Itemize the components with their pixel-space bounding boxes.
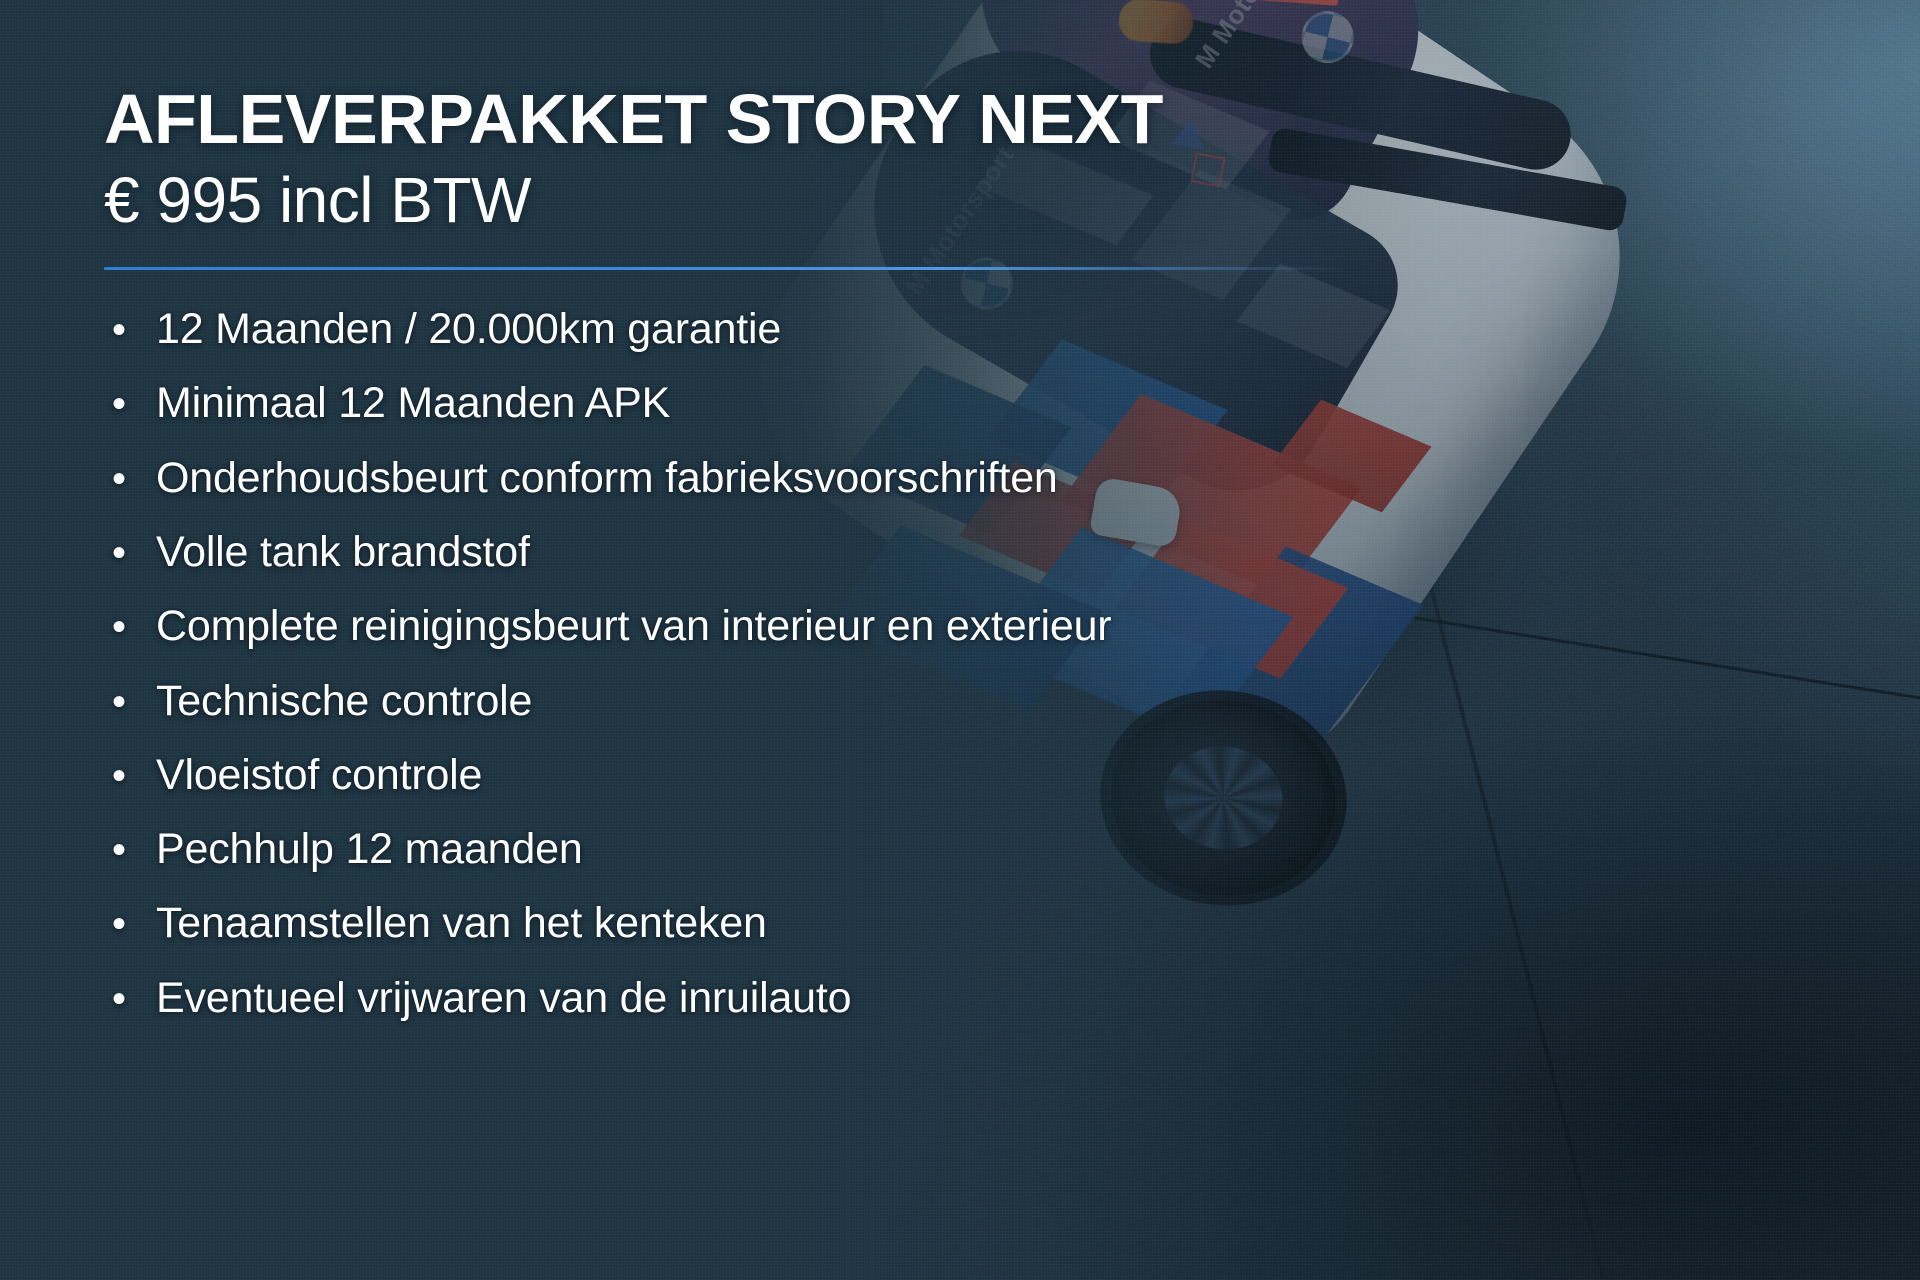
list-item-label: Technische controle [156,678,532,725]
page-title: AFLEVERPAKKET STORY NEXT [104,84,1920,155]
list-item-label: 12 Maanden / 20.000km garantie [156,306,781,353]
list-item-label: Tenaamstellen van het kenteken [156,900,767,947]
bullet-dot-icon: • [104,979,156,1019]
accent-divider [104,267,1344,270]
list-item-0: • 12 Maanden / 20.000km garantie [104,306,1920,353]
list-item-label: Pechhulp 12 maanden [156,826,583,873]
list-item-9: • Eventueel vrijwaren van de inruilauto [104,975,1920,1022]
list-item-label: Onderhoudsbeurt conform fabrieksvoorschr… [156,455,1058,502]
bullet-dot-icon: • [104,533,156,573]
list-item-8: • Tenaamstellen van het kenteken [104,900,1920,947]
promo-slide: M Motorsport M Motorsport M Motorsport A… [0,0,1920,1280]
bullet-dot-icon: • [104,830,156,870]
list-item-4: • Complete reinigingsbeurt van interieur… [104,603,1920,650]
list-item-label: Vloeistof controle [156,752,482,799]
bullet-dot-icon: • [104,459,156,499]
list-item-label: Volle tank brandstof [156,529,530,576]
bullet-dot-icon: • [104,607,156,647]
feature-list: • 12 Maanden / 20.000km garantie • Minim… [104,306,1920,1022]
content-panel: AFLEVERPAKKET STORY NEXT € 995 incl BTW … [0,0,1920,1022]
list-item-3: • Volle tank brandstof [104,529,1920,576]
bullet-dot-icon: • [104,756,156,796]
bullet-dot-icon: • [104,384,156,424]
list-item-7: • Pechhulp 12 maanden [104,826,1920,873]
bullet-dot-icon: • [104,310,156,350]
list-item-5: • Technische controle [104,678,1920,725]
bullet-dot-icon: • [104,682,156,722]
list-item-label: Eventueel vrijwaren van de inruilauto [156,975,851,1022]
bullet-dot-icon: • [104,904,156,944]
list-item-label: Minimaal 12 Maanden APK [156,380,670,427]
price-subtitle: € 995 incl BTW [104,165,1920,237]
list-item-label: Complete reinigingsbeurt van interieur e… [156,603,1111,650]
list-item-6: • Vloeistof controle [104,752,1920,799]
list-item-1: • Minimaal 12 Maanden APK [104,380,1920,427]
list-item-2: • Onderhoudsbeurt conform fabrieksvoorsc… [104,455,1920,502]
